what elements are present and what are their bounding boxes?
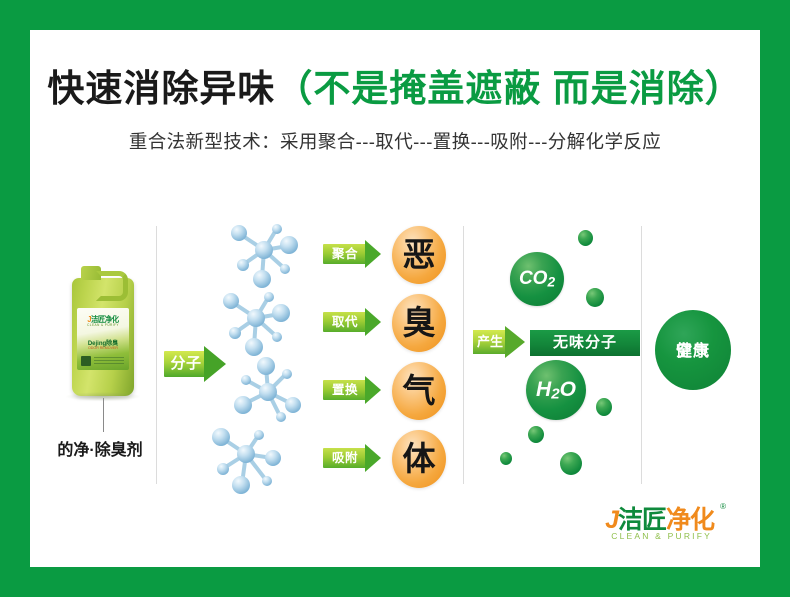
page-title: 快速消除异味（不是掩盖遮蔽 而是消除） <box>30 58 760 112</box>
odor-char: 臭 <box>392 294 446 352</box>
particle-dot-icon <box>586 288 604 307</box>
arrow-produce: 产生 <box>473 326 527 358</box>
odor-char: 气 <box>392 362 446 420</box>
page-subtitle: 重合法新型技术：采用聚合---取代---置换---吸附---分解化学反应 <box>30 128 760 154</box>
title-green-part: （不是掩盖遮蔽 而是消除） <box>275 68 742 109</box>
particle-dot-icon <box>596 398 612 416</box>
molecule-cluster-icon <box>210 424 286 496</box>
arrow-head-icon <box>505 326 525 358</box>
h2o-sphere: H2O <box>526 360 586 420</box>
arrow-step-displace: 置换 <box>323 376 387 404</box>
title-black-part: 快速消除异味 <box>47 68 275 109</box>
arrow-head-icon <box>365 376 381 404</box>
molecule-cluster-icon <box>218 286 294 358</box>
molecule-cluster-icon <box>230 356 306 428</box>
product-group: J洁匠净化 CLEAN & PURIFY Dejing除臭 ODOR REMOV… <box>48 278 152 478</box>
product-bottle-icon: J洁匠净化 CLEAN & PURIFY Dejing除臭 ODOR REMOV… <box>72 278 134 396</box>
odor-char-circle: 气 <box>392 362 446 420</box>
arrow-step-polymerize: 聚合 <box>323 240 387 268</box>
odor-char-circle: 臭 <box>392 294 446 352</box>
arrow-label: 取代 <box>323 312 367 332</box>
co2-formula: CO2 <box>510 252 564 306</box>
brand-logo-cn-b: 净化 <box>666 506 714 534</box>
brand-logo-tagline: CLEAN & PURIFY <box>611 531 712 541</box>
odor-char: 恶 <box>392 226 446 284</box>
product-caption: 的净·除臭剂 <box>34 436 166 460</box>
h2o-formula: H2O <box>526 360 586 420</box>
brand-logo: J洁匠净化 ® CLEAN & PURIFY <box>510 500 740 552</box>
registered-mark-icon: ® <box>720 502 726 511</box>
arrow-step-adsorb: 吸附 <box>323 444 387 472</box>
molecule-cluster-icon <box>226 218 302 290</box>
brand-logo-j: J <box>605 506 618 534</box>
arrow-label: 产生 <box>473 330 507 354</box>
arrow-head-icon <box>365 308 381 336</box>
poster-inner-panel: 快速消除异味（不是掩盖遮蔽 而是消除） 重合法新型技术：采用聚合---取代---… <box>30 30 760 567</box>
arrow-step-substitute: 取代 <box>323 308 387 336</box>
process-diagram: J洁匠净化 CLEAN & PURIFY Dejing除臭 ODOR REMOV… <box>30 200 760 500</box>
product-leader-line <box>103 398 104 432</box>
arrow-head-icon <box>365 240 381 268</box>
odor-char-circle: 恶 <box>392 226 446 284</box>
particle-dot-icon <box>560 452 582 475</box>
healthy-air-label: 健康空气 <box>655 325 731 349</box>
arrow-label: 吸附 <box>323 448 367 468</box>
product-label-badge <box>81 356 91 366</box>
odorless-molecule-banner: 无味分子 <box>530 330 640 356</box>
healthy-air-circle: 健康空气 <box>655 310 731 390</box>
product-label-textlines <box>94 357 124 365</box>
arrow-molecule: 分子 <box>164 346 226 382</box>
co2-sphere: CO2 <box>510 252 564 306</box>
panel-divider-3 <box>641 226 642 484</box>
particle-dot-icon <box>528 426 544 443</box>
odor-char: 体 <box>392 430 446 488</box>
arrow-label: 分子 <box>164 351 208 377</box>
product-label-en: CLEAN & PURIFY <box>77 323 129 327</box>
poster-root: 快速消除异味（不是掩盖遮蔽 而是消除） 重合法新型技术：采用聚合---取代---… <box>0 0 790 597</box>
arrow-head-icon <box>365 444 381 472</box>
arrow-label: 聚合 <box>323 244 367 264</box>
arrow-label: 置换 <box>323 380 367 400</box>
brand-logo-cn-a: 洁匠 <box>618 506 666 534</box>
particle-dot-icon <box>500 452 512 465</box>
panel-divider-2 <box>463 226 464 484</box>
odor-char-circle: 体 <box>392 430 446 488</box>
product-label-sub-en: ODOR REMOVER <box>77 346 129 350</box>
product-label: J洁匠净化 CLEAN & PURIFY Dejing除臭 ODOR REMOV… <box>77 308 129 370</box>
particle-dot-icon <box>578 230 593 246</box>
